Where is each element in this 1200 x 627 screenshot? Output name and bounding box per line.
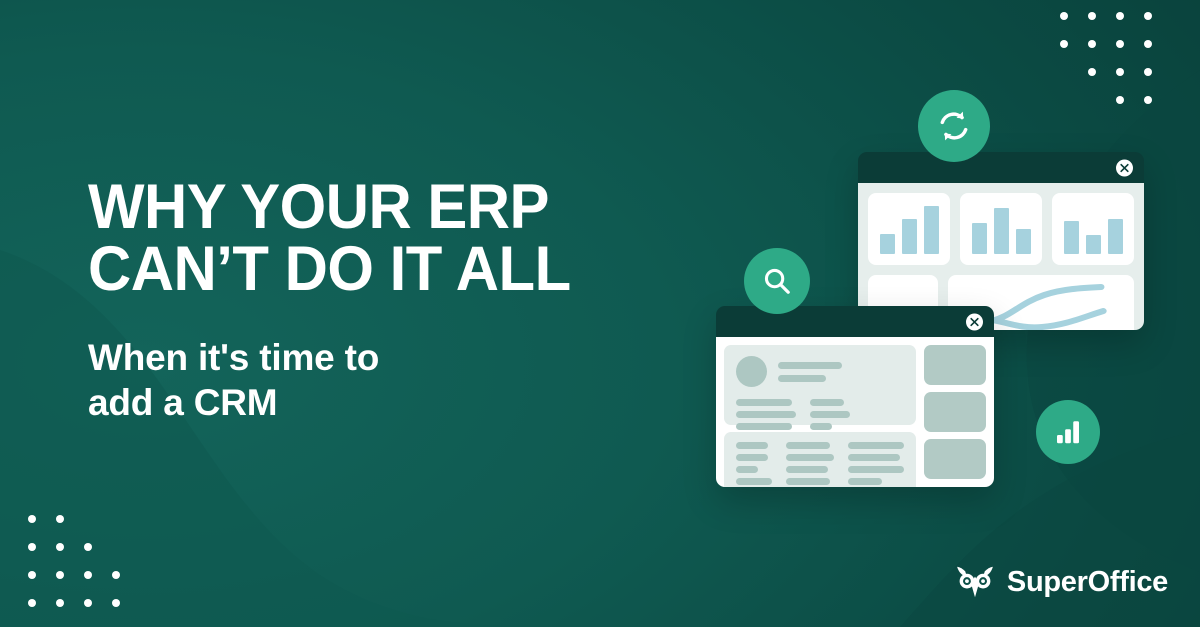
dot-spacer xyxy=(1060,68,1068,76)
window-title-bar xyxy=(858,152,1144,183)
dot xyxy=(112,599,120,607)
dot-row xyxy=(1060,40,1172,48)
contact-card-window[interactable] xyxy=(716,306,994,487)
sync-badge[interactable] xyxy=(918,90,990,162)
dot xyxy=(1144,40,1152,48)
avatar xyxy=(736,356,767,387)
text-placeholder xyxy=(736,478,772,485)
dot-row xyxy=(28,599,140,607)
contact-main-column xyxy=(724,345,916,479)
profile-detail-column xyxy=(736,399,796,430)
headline-line-1: WHY YOUR ERP xyxy=(88,172,549,242)
dot xyxy=(28,515,36,523)
bar xyxy=(1064,221,1079,254)
bar xyxy=(1016,229,1031,254)
page-title: WHY YOUR ERP CAN’T DO IT ALL xyxy=(88,176,677,301)
close-icon[interactable] xyxy=(1116,159,1133,176)
dot-row xyxy=(28,571,140,579)
superoffice-logo[interactable]: SuperOffice xyxy=(954,565,1168,599)
bar-chart-card-3[interactable] xyxy=(1052,193,1134,265)
subhead-line-2: add a CRM xyxy=(88,380,708,425)
text-placeholder xyxy=(778,375,826,382)
bar-chart-card-1[interactable] xyxy=(868,193,950,265)
text-placeholder xyxy=(736,442,768,449)
dot xyxy=(1144,12,1152,20)
text-placeholder xyxy=(736,399,792,406)
dot-row xyxy=(1060,12,1172,20)
dot xyxy=(1116,96,1124,104)
bar xyxy=(994,208,1009,254)
dot-spacer xyxy=(1060,96,1068,104)
text-placeholder xyxy=(810,423,832,430)
bar xyxy=(1086,235,1101,254)
tile-3[interactable] xyxy=(924,439,986,479)
bar xyxy=(1108,219,1123,254)
dashboard-window[interactable] xyxy=(858,152,1144,330)
dot xyxy=(1060,40,1068,48)
text-placeholder xyxy=(736,466,758,473)
text-placeholder xyxy=(786,442,830,449)
chart-card-row xyxy=(868,193,1134,265)
dot xyxy=(56,599,64,607)
text-placeholder xyxy=(736,423,792,430)
owl-icon xyxy=(954,565,996,599)
text-placeholder xyxy=(736,454,768,461)
dot xyxy=(1144,96,1152,104)
dot xyxy=(1088,12,1096,20)
dot xyxy=(28,571,36,579)
dot-row xyxy=(1060,68,1172,76)
dot xyxy=(84,599,92,607)
copy-block: WHY YOUR ERP CAN’T DO IT ALL When it's t… xyxy=(88,176,708,425)
page-subtitle: When it's time to add a CRM xyxy=(88,335,708,425)
tile-1[interactable] xyxy=(924,345,986,385)
dot-row xyxy=(1060,96,1172,104)
profile-name-lines xyxy=(778,362,842,382)
text-placeholder xyxy=(848,442,904,449)
search-badge[interactable] xyxy=(744,248,810,314)
bar xyxy=(924,206,939,254)
dot-grid-bottom-left xyxy=(28,515,140,607)
profile-panel[interactable] xyxy=(724,345,916,425)
analytics-badge[interactable] xyxy=(1036,400,1100,464)
search-icon xyxy=(761,265,793,297)
close-icon[interactable] xyxy=(966,313,983,330)
dot xyxy=(112,571,120,579)
banner-canvas: WHY YOUR ERP CAN’T DO IT ALL When it's t… xyxy=(0,0,1200,627)
dot xyxy=(1088,40,1096,48)
contact-card-body xyxy=(716,337,994,487)
dot xyxy=(84,571,92,579)
text-placeholder xyxy=(810,399,844,406)
bar-chart-card-2[interactable] xyxy=(960,193,1042,265)
dot xyxy=(56,571,64,579)
dot xyxy=(1116,68,1124,76)
window-title-bar xyxy=(716,306,994,337)
dot xyxy=(84,543,92,551)
dot xyxy=(1116,40,1124,48)
list-column xyxy=(848,442,904,485)
dot xyxy=(28,543,36,551)
text-placeholder xyxy=(786,454,834,461)
text-placeholder xyxy=(786,478,830,485)
dot xyxy=(28,599,36,607)
dot-grid-top-right xyxy=(1060,12,1172,104)
text-placeholder xyxy=(848,478,882,485)
text-placeholder xyxy=(810,411,850,418)
bar xyxy=(880,234,895,254)
dot xyxy=(1116,12,1124,20)
bar xyxy=(902,219,917,254)
bar-chart-icon xyxy=(1053,417,1083,447)
dot-row xyxy=(28,543,140,551)
list-column xyxy=(736,442,772,485)
subhead-line-1: When it's time to xyxy=(88,337,379,378)
text-placeholder xyxy=(786,466,828,473)
list-column xyxy=(786,442,834,485)
dot xyxy=(56,515,64,523)
dot xyxy=(1088,68,1096,76)
logo-text: SuperOffice xyxy=(1007,568,1168,597)
dot xyxy=(1060,12,1068,20)
text-placeholder xyxy=(848,466,904,473)
list-panel[interactable] xyxy=(724,432,916,487)
profile-header xyxy=(736,356,904,387)
dot-row xyxy=(28,515,140,523)
dot xyxy=(1144,68,1152,76)
sync-icon xyxy=(936,108,972,144)
text-placeholder xyxy=(778,362,842,369)
bar xyxy=(972,223,987,254)
tile-2[interactable] xyxy=(924,392,986,432)
headline-line-2: CAN’T DO IT ALL xyxy=(88,238,677,300)
dot-spacer xyxy=(1088,96,1096,104)
profile-detail-columns xyxy=(736,399,904,430)
tile-column xyxy=(924,345,986,479)
text-placeholder xyxy=(848,454,900,461)
profile-detail-column xyxy=(810,399,850,430)
dot xyxy=(56,543,64,551)
text-placeholder xyxy=(736,411,796,418)
